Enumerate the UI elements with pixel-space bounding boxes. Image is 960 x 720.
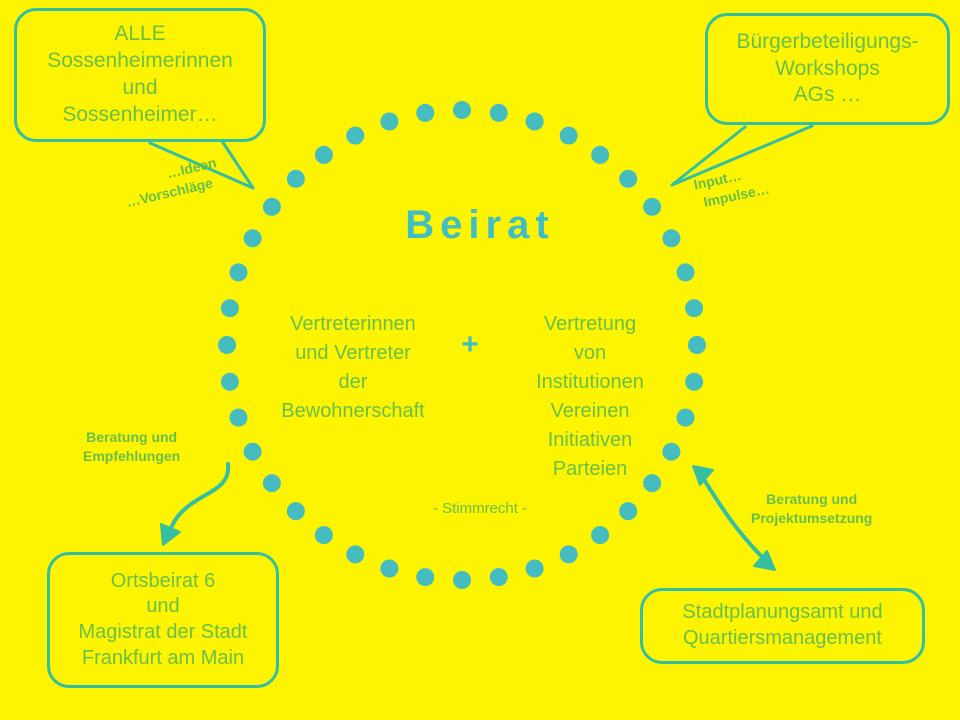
arrow-head-down-right: [754, 551, 775, 570]
ring-dot: [685, 373, 703, 391]
ring-dot: [230, 263, 248, 281]
ring-dot: [685, 299, 703, 317]
ring-dot: [380, 560, 398, 578]
bubble-workshops-line-1: Bürgerbeteiligungs-: [736, 29, 918, 56]
column-institutions-line-6: Parteien: [500, 455, 680, 484]
box-ortsbeirat-line-3: Magistrat der Stadt: [79, 620, 248, 646]
ring-dot: [416, 104, 434, 122]
column-residents-line-4: Bewohnerschaft: [258, 397, 448, 426]
box-ortsbeirat-line-2: und: [146, 594, 179, 620]
ring-dot: [526, 560, 544, 578]
ring-dot: [287, 170, 305, 188]
annotation-beratung-empfehlungen-line-1: Beratung und: [83, 428, 180, 447]
ring-dot: [315, 146, 333, 164]
box-stadtplanungsamt: Stadtplanungsamt und Quartiersmanagement: [640, 588, 925, 664]
arrow-head-up-right: [693, 466, 713, 485]
box-stadtplanungsamt-line-2: Quartiersmanagement: [683, 626, 882, 652]
annotation-beratung-empfehlungen-line-2: Empfehlungen: [83, 447, 180, 466]
ring-dot: [221, 299, 239, 317]
annotation-beratung-projektumsetzung: Beratung und Projektumsetzung: [751, 490, 872, 528]
ring-dot: [591, 146, 609, 164]
arrow-beratung-empfehlungen: [171, 464, 228, 528]
box-ortsbeirat-line-4: Frankfurt am Main: [82, 646, 244, 672]
column-institutions-line-5: Initiativen: [500, 426, 680, 455]
bubble-citizens-line-2: Sossenheimerinnen: [47, 48, 233, 75]
ring-dot: [560, 127, 578, 145]
ring-dot: [346, 127, 364, 145]
column-institutions: Vertretung von Institutionen Vereinen In…: [500, 310, 680, 484]
ring-dot: [490, 104, 508, 122]
ring-dot: [221, 373, 239, 391]
box-ortsbeirat: Ortsbeirat 6 und Magistrat der Stadt Fra…: [47, 552, 279, 688]
ring-dot: [560, 545, 578, 563]
ring-dot: [346, 545, 364, 563]
bubble-workshops-line-2: Workshops: [775, 56, 880, 83]
ring-dot: [315, 526, 333, 544]
diagram-canvas: ALLE Sossenheimerinnen und Sossenheimer……: [0, 0, 960, 720]
column-residents-line-3: der: [258, 368, 448, 397]
ring-dot: [244, 443, 262, 461]
bubble-citizens: ALLE Sossenheimerinnen und Sossenheimer…: [14, 8, 266, 142]
ring-dot: [416, 568, 434, 586]
bubble-workshops-line-3: AGs …: [794, 82, 862, 109]
column-residents-line-1: Vertreterinnen: [258, 310, 448, 339]
ring-dot: [619, 170, 637, 188]
box-ortsbeirat-line-1: Ortsbeirat 6: [111, 569, 215, 595]
bubble-citizens-line-1: ALLE: [114, 21, 165, 48]
bubble-citizens-line-3: und: [122, 75, 157, 102]
arrow-head-down-left: [161, 524, 180, 545]
ring-dot: [453, 571, 471, 589]
plus-icon: +: [450, 330, 490, 360]
column-institutions-line-4: Vereinen: [500, 397, 680, 426]
ring-dot: [677, 263, 695, 281]
ring-dot: [688, 336, 706, 354]
ring-dot: [380, 113, 398, 131]
annotation-beratung-projektumsetzung-line-2: Projektumsetzung: [751, 509, 872, 528]
ring-dot: [526, 113, 544, 131]
annotation-beratung-empfehlungen: Beratung und Empfehlungen: [83, 428, 180, 466]
ring-dot: [490, 568, 508, 586]
ring-dot: [230, 409, 248, 427]
column-institutions-line-2: von: [500, 339, 680, 368]
title-beirat: Beirat: [0, 203, 960, 248]
ring-dot: [218, 336, 236, 354]
bubble-workshops: Bürgerbeteiligungs- Workshops AGs …: [705, 13, 950, 125]
ring-dot: [453, 101, 471, 119]
bubble-citizens-line-4: Sossenheimer…: [62, 102, 217, 129]
column-residents-line-2: und Vertreter: [258, 339, 448, 368]
column-residents: Vertreterinnen und Vertreter der Bewohne…: [258, 310, 448, 426]
column-institutions-line-3: Institutionen: [500, 368, 680, 397]
ring-dot: [591, 526, 609, 544]
column-institutions-line-1: Vertretung: [500, 310, 680, 339]
box-stadtplanungsamt-line-1: Stadtplanungsamt und: [682, 600, 882, 626]
annotation-beratung-projektumsetzung-line-1: Beratung und: [751, 490, 872, 509]
ring-dot: [263, 474, 281, 492]
